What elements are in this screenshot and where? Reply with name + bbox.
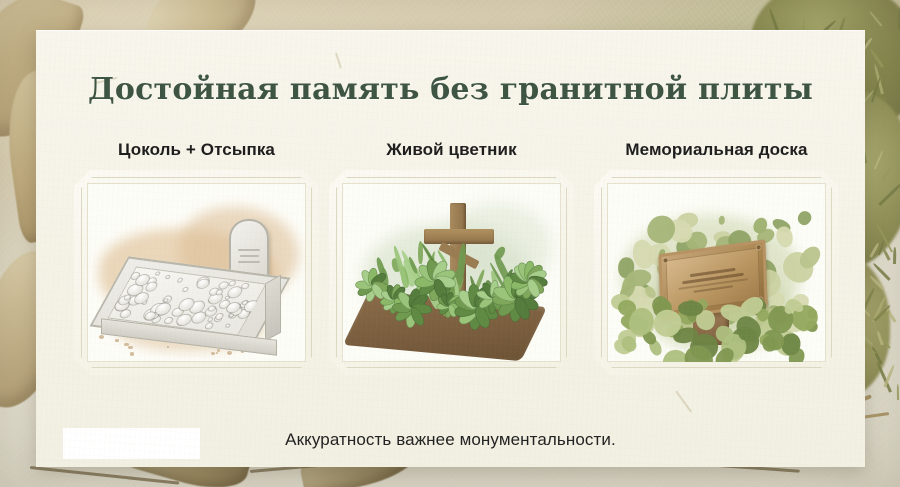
pebble bbox=[155, 272, 159, 275]
pebble bbox=[225, 296, 229, 299]
pebble bbox=[183, 288, 189, 292]
card-frame bbox=[74, 170, 319, 375]
shrub-leaf bbox=[795, 208, 814, 227]
pebble bbox=[190, 312, 207, 323]
grit-speck bbox=[216, 352, 218, 354]
card-flower-bed[interactable]: Живой цветник bbox=[329, 140, 574, 375]
pebble bbox=[205, 323, 214, 329]
card-title: Цоколь + Отсыпка bbox=[74, 140, 319, 160]
pebble bbox=[242, 284, 249, 289]
card-frame bbox=[329, 170, 574, 375]
card-memorial-plaque[interactable]: Мемориальная доска bbox=[594, 140, 839, 375]
grit-speck bbox=[99, 335, 104, 339]
illustration-flower-bed bbox=[342, 183, 561, 362]
grit-speck bbox=[128, 346, 133, 350]
plaque-screw bbox=[757, 245, 761, 250]
pebble bbox=[208, 318, 212, 321]
grit-speck bbox=[167, 346, 169, 347]
page-title: Достойная память без гранитной плиты bbox=[36, 72, 865, 107]
pebble bbox=[165, 276, 169, 279]
card-title: Мемориальная доска bbox=[594, 140, 839, 160]
pebble bbox=[164, 318, 173, 324]
paper-fiber bbox=[675, 390, 692, 412]
pebble bbox=[219, 282, 229, 289]
pebble bbox=[119, 310, 131, 318]
pebble bbox=[227, 287, 243, 298]
slide-panel: Достойная память без гранитной плиты Цок… bbox=[36, 30, 865, 467]
illustration-grave-plinth bbox=[87, 183, 306, 362]
pebble bbox=[225, 324, 229, 327]
footer-caption: Аккуратность важнее монументальности. bbox=[36, 430, 865, 450]
plinth-side-face bbox=[265, 275, 281, 342]
card-title: Живой цветник bbox=[329, 140, 574, 160]
grit-speck bbox=[130, 352, 134, 355]
pebble bbox=[215, 313, 224, 319]
sprig bbox=[418, 241, 423, 264]
illustration-memorial-plaque bbox=[607, 183, 826, 362]
card-plinth[interactable]: Цоколь + Отсыпка bbox=[74, 140, 319, 375]
card-frame bbox=[594, 170, 839, 375]
paper-fiber bbox=[335, 53, 342, 69]
pebble bbox=[178, 279, 182, 282]
grit-speck bbox=[227, 351, 232, 355]
footer: Аккуратность важнее монументальности. bbox=[36, 424, 865, 467]
cards-row: Цоколь + Отсыпка bbox=[36, 140, 865, 390]
pebble bbox=[229, 281, 236, 286]
grit-speck bbox=[211, 352, 215, 355]
wooden-cross-arm bbox=[424, 229, 494, 244]
grass-blade bbox=[893, 247, 896, 264]
grit-speck bbox=[115, 339, 119, 342]
